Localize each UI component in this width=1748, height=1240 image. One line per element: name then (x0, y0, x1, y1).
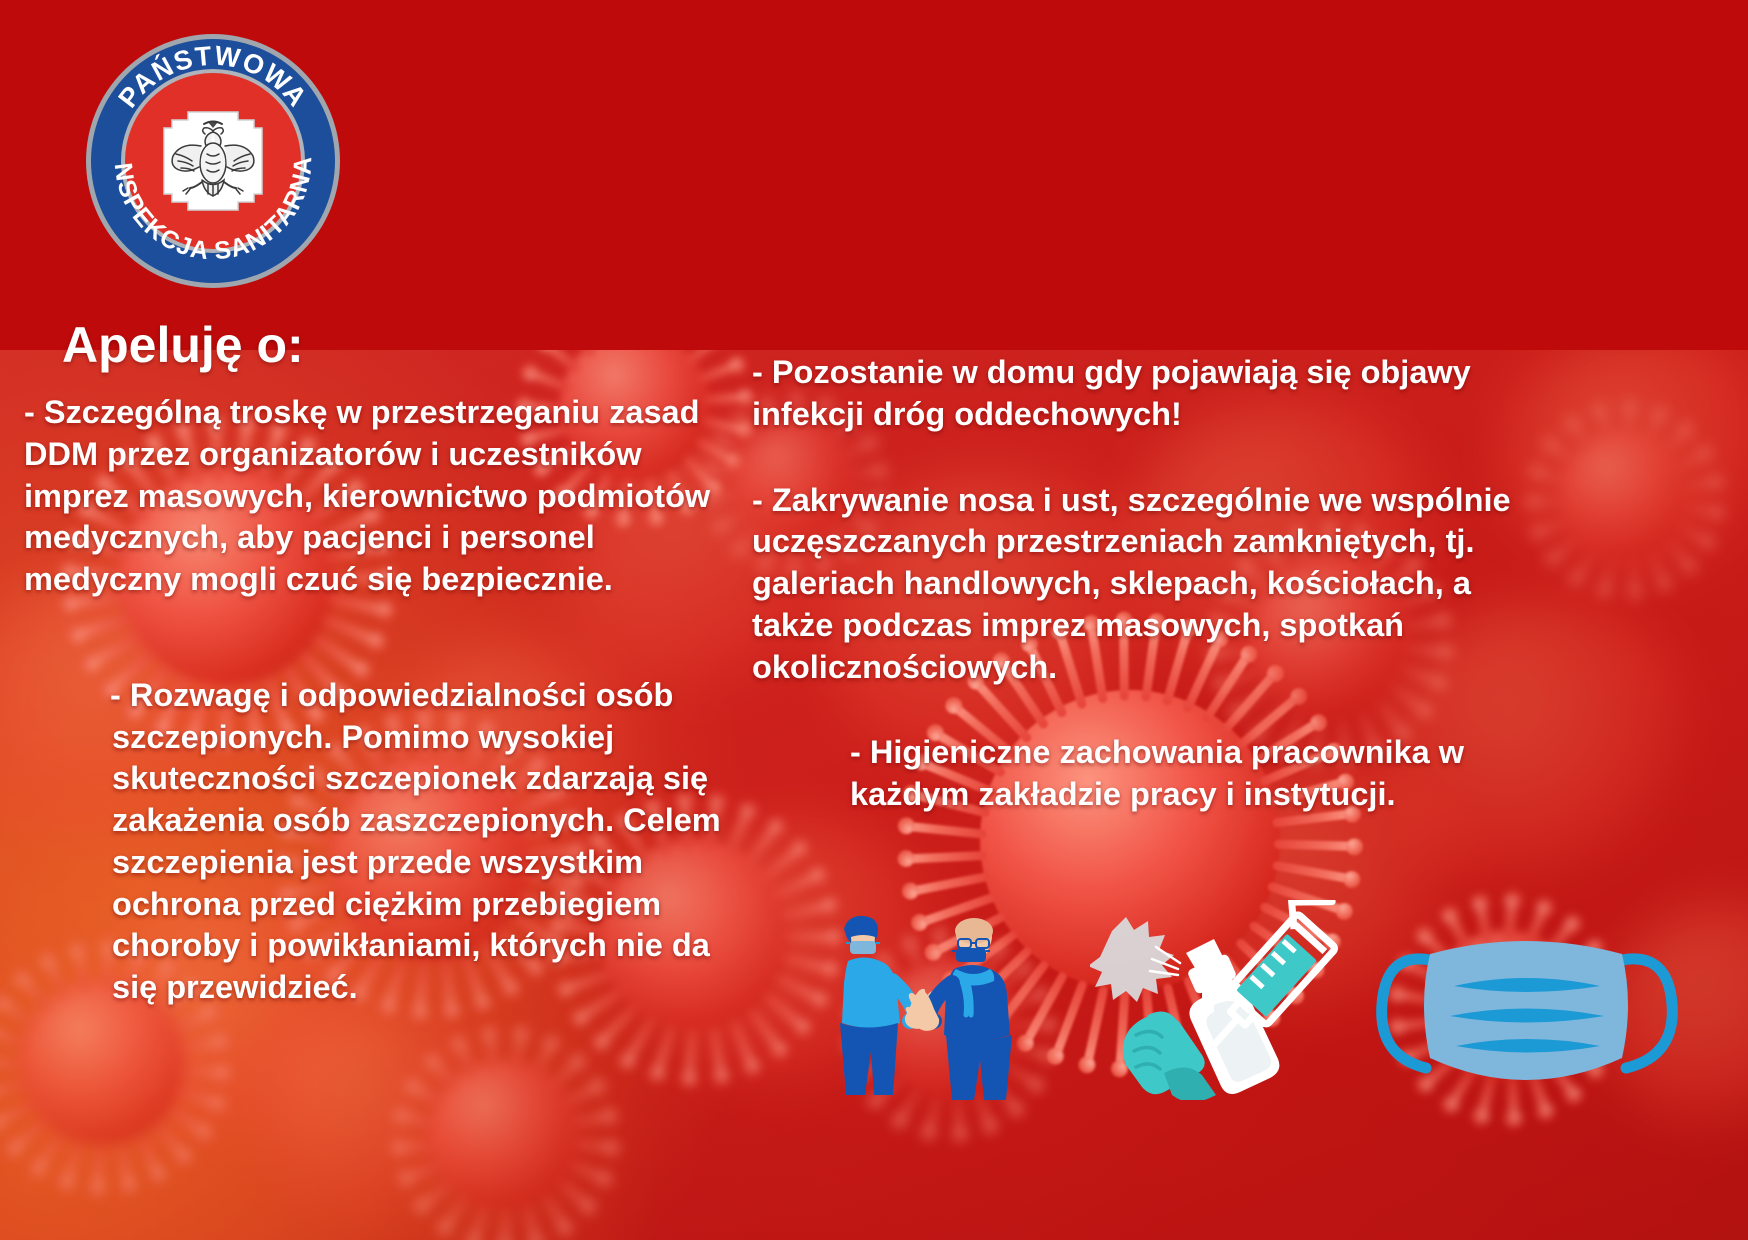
syringe-icon (1192, 900, 1392, 1100)
surgical-mask-icon (1372, 898, 1682, 1113)
right-bullet-3: - Higieniczne zachowania pracownika w ka… (752, 732, 1512, 816)
left-bullet-1: - Szczególną troskę w przestrzeganiu zas… (24, 392, 724, 601)
spray-burst (1090, 917, 1180, 1002)
poster-canvas: Apel Lubelskiego Państwowego Wojewódzkie… (0, 0, 1748, 1240)
right-bullet-2: - Zakrywanie nosa i ust, szczególnie we … (752, 480, 1512, 689)
right-column: - Pozostanie w domu gdy pojawiają się ob… (752, 352, 1512, 816)
left-column: - Szczególną troskę w przestrzeganiu zas… (24, 392, 724, 1009)
person-right (906, 918, 1012, 1100)
two-masked-people-greeting-icon (806, 895, 1066, 1100)
virus-particle (1560, 430, 1690, 560)
left-bullet-2: - Rozwagę i odpowiedzialności osób szcze… (24, 675, 724, 1009)
virus-particle (430, 1060, 580, 1210)
appeal-heading: Apeluję o: (62, 316, 304, 374)
right-bullet-1: - Pozostanie w domu gdy pojawiają się ob… (752, 352, 1512, 436)
sanitary-inspection-logo: PAŃSTWOWA INSPEKCJA SANITARNA (84, 32, 342, 290)
